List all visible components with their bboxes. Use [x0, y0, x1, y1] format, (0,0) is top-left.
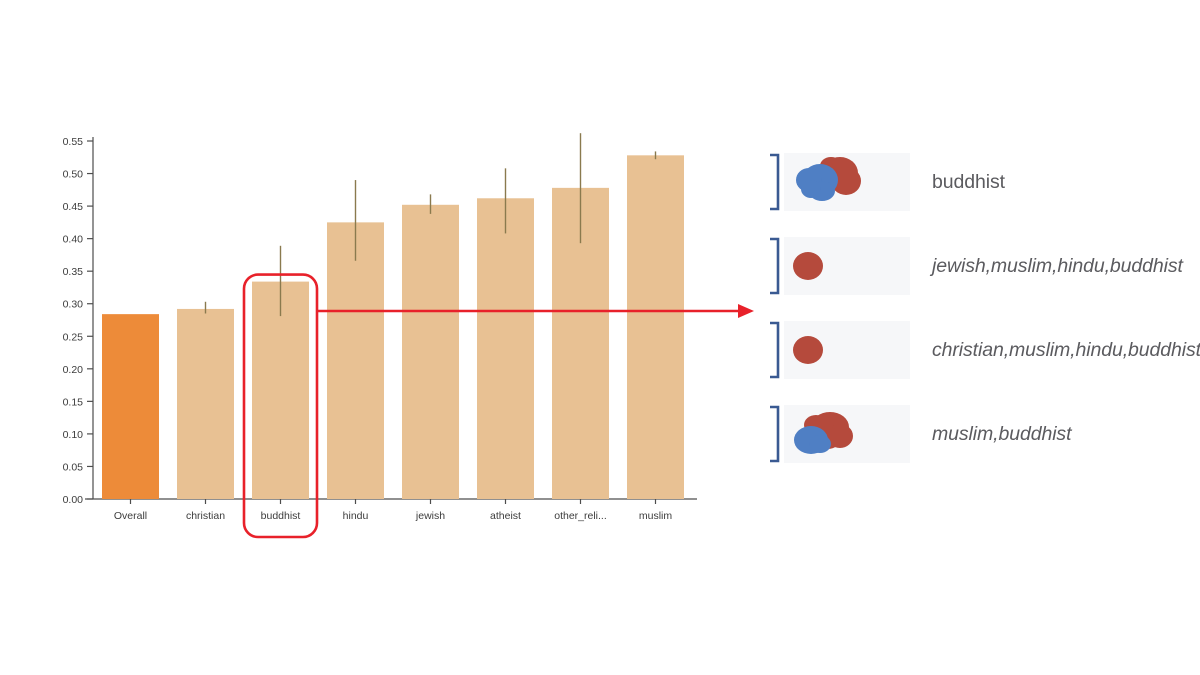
y-tick-label-1: 0.05: [63, 461, 84, 473]
legend-label-3: muslim,buddhist: [932, 423, 1071, 446]
bar-group-other_reli: [552, 133, 609, 499]
legend-panel: buddhist jewish,muslim,hindu,buddhist: [768, 148, 1198, 484]
legend-item-1[interactable]: jewish,muslim,hindu,buddhist: [768, 232, 1198, 300]
y-tick-label-3: 0.15: [63, 396, 84, 408]
bar-chart-panel: 0.000.050.100.150.200.250.300.350.400.45…: [0, 0, 760, 675]
bar-chart-svg: 0.000.050.100.150.200.250.300.350.400.45…: [0, 0, 760, 675]
blob-single-red-icon: [793, 336, 823, 364]
x-tick-label-5: atheist: [490, 510, 521, 522]
legend-item-0[interactable]: buddhist: [768, 148, 1198, 216]
bar-muslim[interactable]: [627, 155, 684, 499]
bracket-icon-0: [768, 153, 782, 211]
blob-single-red-icon: [793, 252, 823, 280]
bar-group-christian: [177, 302, 234, 499]
bar-hindu[interactable]: [327, 222, 384, 499]
blob-thumbnail-1[interactable]: [784, 237, 910, 295]
y-tick-label-0: 0.00: [63, 494, 84, 506]
blob-thumbnail-0[interactable]: [784, 153, 910, 211]
bar-Overall[interactable]: [102, 314, 159, 499]
y-tick-label-10: 0.50: [63, 169, 84, 181]
bracket-icon-2: [768, 321, 782, 379]
bar-atheist[interactable]: [477, 198, 534, 499]
legend-item-3[interactable]: muslim,buddhist: [768, 400, 1198, 468]
y-tick-label-5: 0.25: [63, 331, 84, 343]
y-tick-label-4: 0.20: [63, 364, 84, 376]
x-tick-label-2: buddhist: [261, 510, 301, 522]
legend-label-1: jewish,muslim,hindu,buddhist: [932, 255, 1183, 278]
y-tick-label-2: 0.10: [63, 429, 84, 441]
x-tick-label-1: christian: [186, 510, 225, 522]
blob-thumbnail-3[interactable]: [784, 405, 910, 463]
bar-group-atheist: [477, 168, 534, 499]
blob-cluster-blue-red-icon: [796, 157, 861, 201]
bar-group-hindu: [327, 180, 384, 499]
screenshot-root: 0.000.050.100.150.200.250.300.350.400.45…: [0, 0, 1200, 675]
legend-item-2[interactable]: christian,muslim,hindu,buddhist: [768, 316, 1198, 384]
x-tick-label-4: jewish: [415, 510, 445, 522]
callout-arrow-head: [738, 304, 754, 318]
y-tick-label-11: 0.55: [63, 136, 84, 148]
y-tick-label-7: 0.35: [63, 266, 84, 278]
bar-group-Overall: [102, 314, 159, 499]
y-tick-label-9: 0.45: [63, 201, 84, 213]
blob-thumbnail-2[interactable]: [784, 321, 910, 379]
bar-group-buddhist: [252, 246, 309, 499]
blob-cluster-red-blue-icon: [794, 412, 853, 454]
bracket-icon-3: [768, 405, 782, 463]
bar-group-muslim: [627, 151, 684, 499]
bar-jewish[interactable]: [402, 205, 459, 499]
bracket-icon-1: [768, 237, 782, 295]
legend-label-2: christian,muslim,hindu,buddhist: [932, 339, 1200, 362]
legend-label-0: buddhist: [932, 171, 1005, 194]
bar-group-jewish: [402, 194, 459, 499]
y-tick-label-6: 0.30: [63, 299, 84, 311]
x-tick-label-6: other_reli...: [554, 510, 607, 522]
x-tick-label-7: muslim: [639, 510, 673, 522]
bar-christian[interactable]: [177, 309, 234, 499]
x-tick-label-0: Overall: [114, 510, 147, 522]
x-tick-label-3: hindu: [343, 510, 369, 522]
y-tick-label-8: 0.40: [63, 234, 84, 246]
